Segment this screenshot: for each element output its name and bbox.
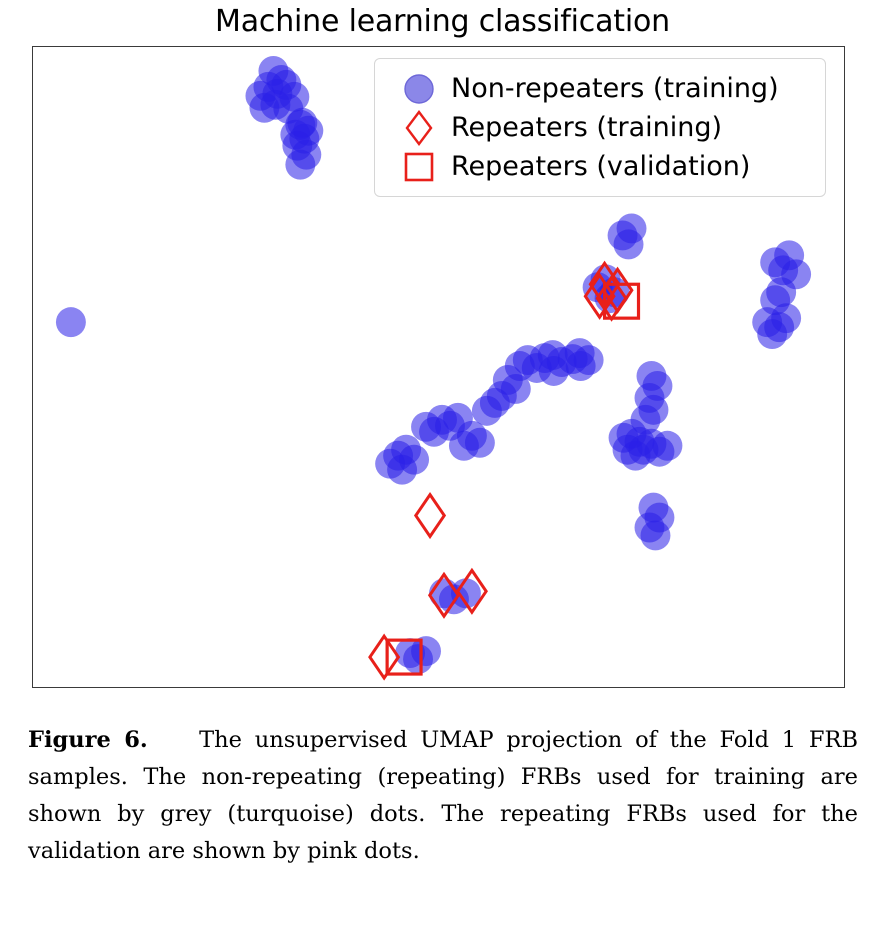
data-point-non-repeater bbox=[279, 82, 309, 112]
caption-text: The unsupervised UMAP projection of the … bbox=[28, 727, 858, 864]
legend-item-repeaters-training: Repeaters (training) bbox=[387, 108, 811, 147]
figure-caption: Figure 6. The unsupervised UMAP projecti… bbox=[28, 722, 858, 870]
square-outline-marker bbox=[387, 146, 451, 188]
data-point-non-repeater bbox=[757, 319, 787, 349]
data-point-non-repeater bbox=[614, 229, 644, 259]
data-point-non-repeater bbox=[285, 150, 315, 180]
data-point-non-repeater bbox=[293, 116, 323, 146]
legend-label-repeaters-training: Repeaters (training) bbox=[451, 114, 722, 141]
plot-panel: Non-repeaters (training) Repeaters (trai… bbox=[32, 46, 845, 688]
data-point-non-repeater bbox=[565, 338, 595, 368]
data-point-non-repeater bbox=[449, 431, 479, 461]
data-point-non-repeater bbox=[56, 307, 86, 337]
legend-item-non-repeaters-training: Non-repeaters (training) bbox=[387, 69, 811, 108]
data-point-non-repeater bbox=[411, 412, 441, 442]
legend: Non-repeaters (training) Repeaters (trai… bbox=[374, 58, 826, 197]
data-point-repeater-training bbox=[370, 636, 398, 678]
figure-container: Machine learning classification Non-repe… bbox=[0, 0, 885, 926]
series-square-points bbox=[387, 284, 638, 674]
diamond-outline-marker bbox=[387, 107, 451, 149]
filled-circle-marker bbox=[387, 68, 451, 110]
data-point-repeater-training bbox=[416, 495, 444, 537]
legend-item-repeaters-validation: Repeaters (validation) bbox=[387, 147, 811, 186]
data-point-non-repeater bbox=[652, 431, 682, 461]
legend-label-repeaters-validation: Repeaters (validation) bbox=[451, 153, 750, 180]
caption-label: Figure 6. bbox=[28, 727, 148, 753]
data-point-non-repeater bbox=[641, 521, 671, 551]
data-point-non-repeater bbox=[387, 455, 417, 485]
legend-label-non-repeaters-training: Non-repeaters (training) bbox=[451, 75, 779, 102]
data-point-non-repeater bbox=[472, 396, 502, 426]
data-point-non-repeater bbox=[613, 435, 643, 465]
chart-title: Machine learning classification bbox=[0, 4, 885, 40]
